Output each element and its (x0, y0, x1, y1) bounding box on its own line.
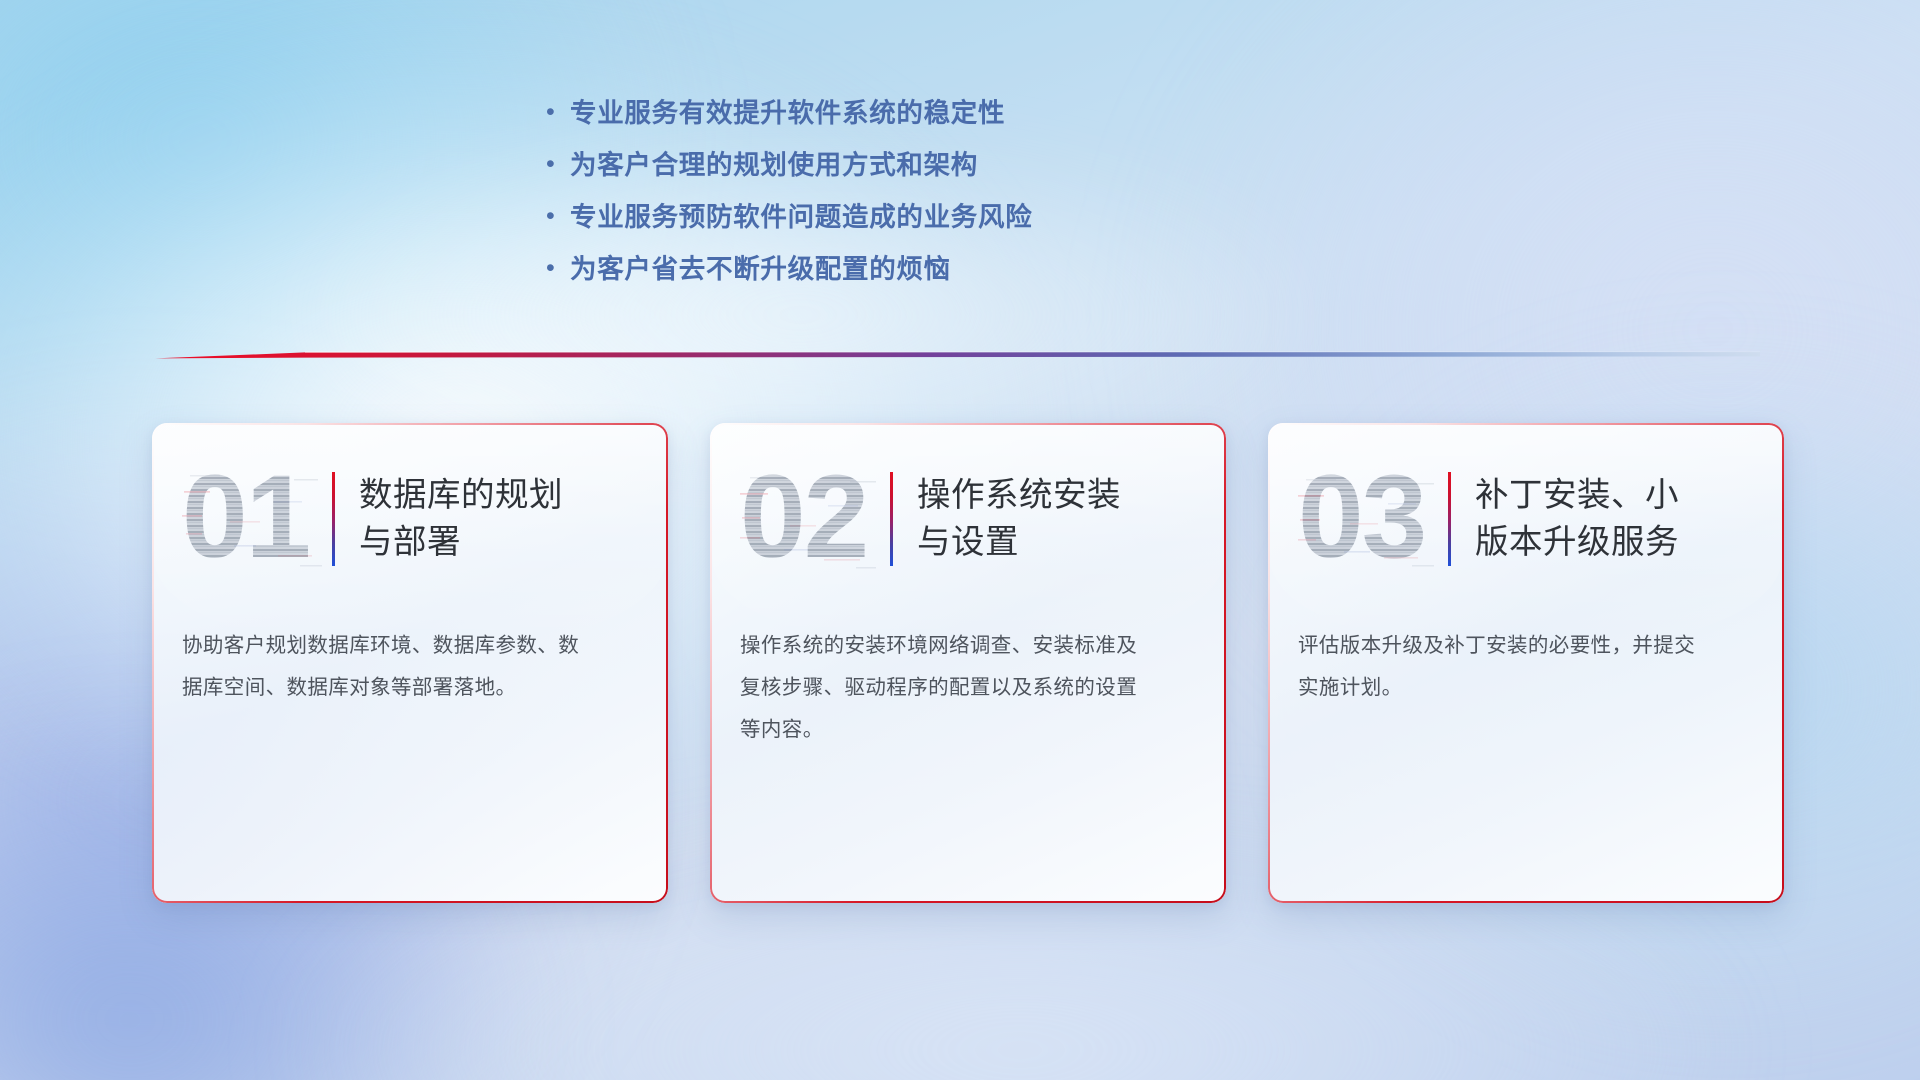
bullet-text: 专业服务有效提升软件系统的稳定性 (570, 88, 1005, 138)
card-description: 评估版本升级及补丁安装的必要性，并提交实施计划。 (1298, 625, 1698, 709)
card-title: 操作系统安装 与设置 (917, 472, 1121, 566)
bullet-text: 专业服务预防软件问题造成的业务风险 (570, 192, 1032, 242)
card-title-line: 与部署 (359, 519, 563, 566)
card-title: 数据库的规划 与部署 (359, 472, 563, 566)
list-item: • 专业服务预防软件问题造成的业务风险 (540, 192, 1260, 244)
list-item: • 为客户省去不断升级配置的烦恼 (540, 244, 1260, 296)
card-number-graphic: 02 (740, 459, 886, 579)
benefits-bullet-list: • 专业服务有效提升软件系统的稳定性 • 为客户合理的规划使用方式和架构 • 专… (540, 88, 1260, 296)
card-title-line: 操作系统安装 (917, 472, 1121, 519)
service-card[interactable]: 01 (152, 423, 668, 903)
list-item: • 专业服务有效提升软件系统的稳定性 (540, 88, 1260, 140)
service-card[interactable]: 03 (1268, 423, 1784, 903)
bullet-marker-icon: • (540, 192, 570, 240)
accent-rule (155, 349, 1760, 363)
bullet-marker-icon: • (540, 140, 570, 188)
card-accent-divider (1448, 472, 1451, 566)
card-title-line: 版本升级服务 (1475, 519, 1679, 566)
card-title-line: 数据库的规划 (359, 472, 563, 519)
bullet-marker-icon: • (540, 88, 570, 136)
service-card[interactable]: 02 (710, 423, 1226, 903)
card-title-line: 补丁安装、小 (1475, 472, 1679, 519)
card-accent-divider (332, 472, 335, 566)
slide-canvas: • 专业服务有效提升软件系统的稳定性 • 为客户合理的规划使用方式和架构 • 专… (0, 0, 1920, 1080)
bullet-marker-icon: • (540, 244, 570, 292)
list-item: • 为客户合理的规划使用方式和架构 (540, 140, 1260, 192)
card-title-line: 与设置 (917, 519, 1121, 566)
service-card-row: 01 (152, 423, 1784, 905)
card-accent-divider (890, 472, 893, 566)
card-title: 补丁安装、小 版本升级服务 (1475, 472, 1679, 566)
bullet-text: 为客户省去不断升级配置的烦恼 (570, 244, 951, 294)
card-number-graphic: 01 (182, 459, 328, 579)
card-description: 协助客户规划数据库环境、数据库参数、数据库空间、数据库对象等部署落地。 (182, 625, 582, 709)
card-number-graphic: 03 (1298, 459, 1444, 579)
bullet-text: 为客户合理的规划使用方式和架构 (570, 140, 978, 190)
card-description: 操作系统的安装环境网络调查、安装标准及复核步骤、驱动程序的配置以及系统的设置等内… (740, 625, 1140, 751)
